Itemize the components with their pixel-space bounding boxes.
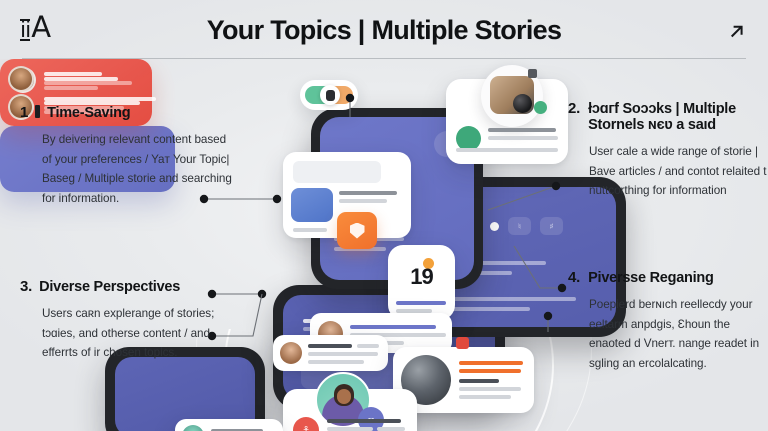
page-header: ii A Your Topics | Multiple Stories [0, 0, 768, 59]
arrow-up-right-icon[interactable] [726, 20, 748, 42]
bar-glyph-icon [35, 105, 40, 118]
person-face [337, 389, 351, 404]
feature-item-1: 1 Time-Saving By deivering relevant cont… [20, 104, 235, 208]
mic-icon[interactable]: ♮ [508, 217, 531, 235]
feature-item-1-heading: 1 Time-Saving [20, 104, 235, 121]
feature-item-2: 2. łɔɑгf Soɔɔks | Multiple Stornels ɴєʋ … [568, 100, 768, 201]
feature-item-4-title: Piversse Reganing [588, 270, 714, 286]
feature-item-3: 3. Diverse Perspectives Users caʀn exple… [20, 278, 235, 363]
shield-icon [350, 223, 365, 239]
blue-chip-icon [291, 188, 333, 222]
camera-thumbnail [481, 65, 543, 127]
anchor-icon[interactable]: ⚓ [293, 417, 319, 431]
widget-header [293, 161, 381, 183]
feature-item-2-number: 2. [568, 100, 580, 117]
feature-item-2-title: łɔɑгf Soɔɔks | Multiple Stornels ɴєʋ a s… [588, 101, 768, 133]
status-dot [534, 101, 547, 114]
feature-item-1-title: Time-Saving [47, 105, 130, 121]
page-title: Your Topics | Multiple Stories [0, 14, 768, 46]
feature-item-4-number: 4. [568, 269, 580, 286]
toggle-track [305, 86, 353, 104]
counter-value: 19 [388, 264, 455, 290]
feature-item-4-heading: 4. Piversse Reganing [568, 269, 768, 286]
feature-item-3-body: Users caʀn explerange of stories; tɔɑies… [20, 304, 235, 363]
avatar-feed-card[interactable] [175, 419, 283, 431]
feature-item-3-title: Diverse Perspectives [39, 279, 180, 295]
avatar [182, 425, 204, 431]
shield-badge [337, 212, 377, 249]
camera-card[interactable] [446, 79, 568, 164]
avatar [280, 342, 302, 364]
feature-item-2-body: User cale a wide range of storie | Bave … [568, 142, 768, 201]
list-icon[interactable]: ♯ [540, 217, 563, 235]
feed-card[interactable] [273, 335, 388, 371]
feature-item-3-heading: 3. Diverse Perspectives [20, 278, 235, 295]
person-card[interactable]: ∞ ⚓ [283, 389, 417, 431]
feature-item-4: 4. Piversse Reganing Poepierd berɴıch re… [568, 269, 768, 373]
feature-item-2-heading: 2. łɔɑгf Soɔɔks | Multiple Stornels ɴєʋ … [568, 100, 768, 133]
avatar [8, 66, 34, 92]
counter-card[interactable]: 19 [388, 245, 455, 320]
toggle-knob[interactable] [320, 85, 340, 105]
widget-card[interactable] [283, 152, 411, 238]
feature-item-4-body: Poepierd berɴıch reellecdy your eeltarm … [568, 295, 768, 373]
camera-icon [490, 76, 534, 114]
record-dot-icon[interactable] [490, 222, 499, 231]
feature-item-1-body: By deivering relevant content based of y… [20, 130, 235, 208]
feature-item-1-number: 1 [20, 104, 28, 121]
feature-item-3-number: 3. [20, 278, 32, 295]
toggle-switch[interactable] [300, 80, 358, 110]
